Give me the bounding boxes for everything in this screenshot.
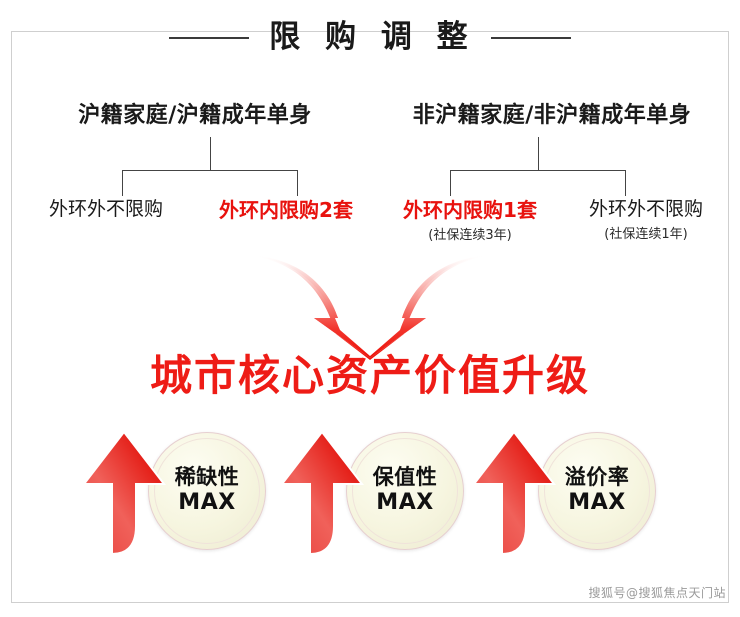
badge-label-max: MAX xyxy=(178,491,235,515)
category-header-local: 沪籍家庭/沪籍成年单身 xyxy=(18,97,372,129)
benefit-badge-value-retention: 保值性 MAX xyxy=(270,424,470,554)
benefit-badge-premium-rate: 溢价率 MAX xyxy=(462,424,662,554)
title-rule-left-icon xyxy=(169,37,249,39)
badge-caption: 溢价率 MAX xyxy=(538,432,656,550)
bracket-stem xyxy=(538,137,539,170)
bracket-leg-left xyxy=(122,170,123,196)
connector-bracket-local xyxy=(122,137,298,197)
badge-label-max: MAX xyxy=(376,491,433,515)
badge-label-cn: 稀缺性 xyxy=(175,466,240,489)
connector-bracket-nonlocal xyxy=(450,137,626,197)
page-title-row: 限 购 调 整 xyxy=(0,22,740,53)
policy-option-inner-ring-nonlocal: 外环内限购1套 (社保连续3年) xyxy=(380,198,560,246)
source-watermark: 搜狐号@搜狐焦点天门站 xyxy=(588,584,726,601)
policy-option-outer-ring-nonlocal: 外环外不限购 (社保连续1年) xyxy=(556,198,736,244)
title-rule-right-icon xyxy=(491,37,571,39)
badge-label-cn: 溢价率 xyxy=(565,466,630,489)
policy-option-inner-ring-local: 外环内限购2套 xyxy=(196,198,376,226)
policy-option-note: (社保连续3年) xyxy=(380,226,560,246)
bracket-crossbar xyxy=(450,170,626,171)
bracket-crossbar xyxy=(122,170,298,171)
policy-option-note: (社保连续1年) xyxy=(556,225,736,245)
bracket-leg-right xyxy=(297,170,298,196)
page-title: 限 购 调 整 xyxy=(265,22,474,53)
main-headline: 城市核心资产价值升级 xyxy=(0,355,740,397)
badge-caption: 保值性 MAX xyxy=(346,432,464,550)
policy-option-label: 外环外不限购 xyxy=(16,198,196,222)
policy-option-label: 外环内限购1套 xyxy=(380,198,560,223)
badge-label-cn: 保值性 xyxy=(373,466,438,489)
category-header-nonlocal: 非沪籍家庭/非沪籍成年单身 xyxy=(372,97,732,129)
badge-label-max: MAX xyxy=(568,491,625,515)
bracket-leg-left xyxy=(450,170,451,196)
infographic-canvas: 限 购 调 整 沪籍家庭/沪籍成年单身 非沪籍家庭/非沪籍成年单身 外环外不限购… xyxy=(0,0,740,617)
bracket-leg-right xyxy=(625,170,626,196)
down-funnel-arrow-icon xyxy=(248,252,492,362)
policy-option-label: 外环内限购2套 xyxy=(196,198,376,223)
benefit-badge-row: 稀缺性 MAX xyxy=(0,424,740,554)
policy-option-label: 外环外不限购 xyxy=(556,198,736,222)
badge-caption: 稀缺性 MAX xyxy=(148,432,266,550)
bracket-stem xyxy=(210,137,211,170)
policy-option-outer-ring-local: 外环外不限购 xyxy=(16,198,196,225)
benefit-badge-scarcity: 稀缺性 MAX xyxy=(72,424,272,554)
